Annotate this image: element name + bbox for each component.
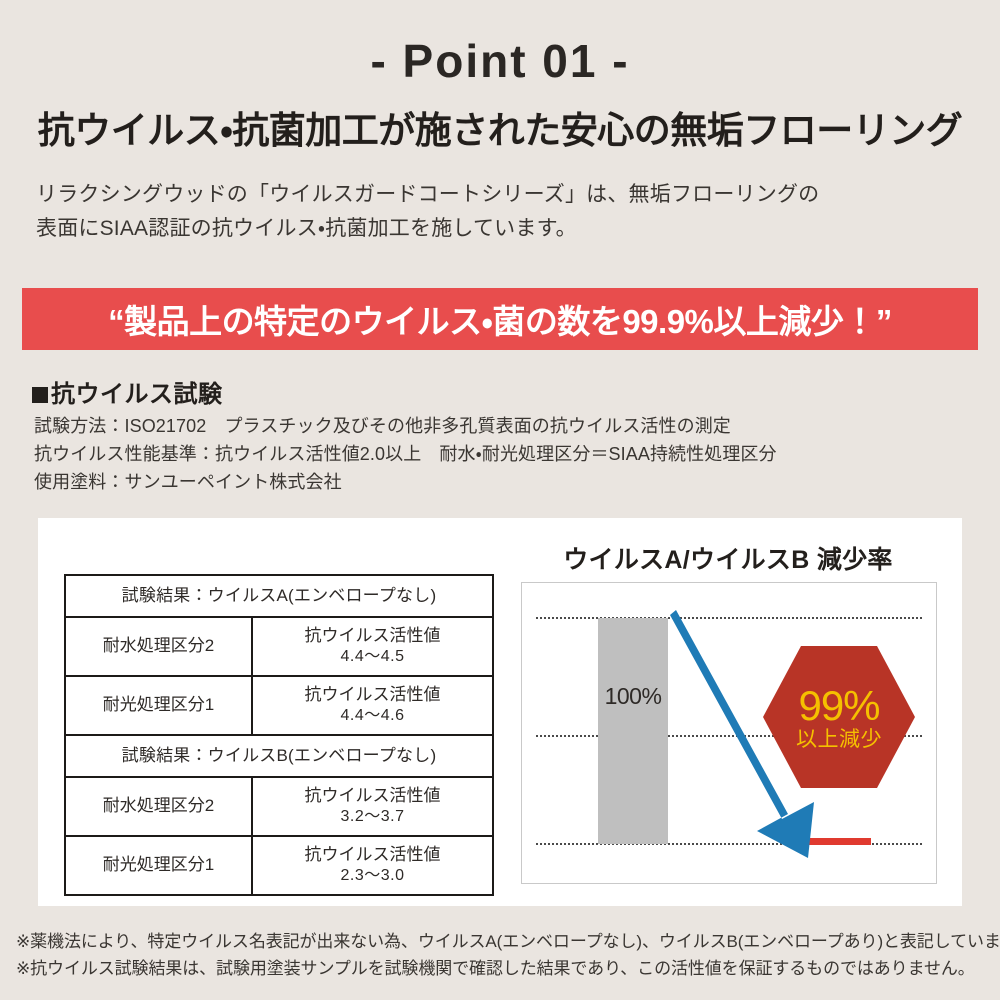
page-title: 抗ウイルス・抗菌加工が施された安心の無垢フローリング (0, 110, 1000, 153)
test-info-line-1: 試験方法：ISO21702 プラスチック及びその他非多孔質表面の抗ウイルス活性の… (34, 412, 964, 440)
highlight-banner: “製品上の特定のウイルス・菌の数を99.9%以上減少！” (22, 288, 978, 350)
row-label: 耐光処理区分1 (65, 676, 252, 735)
footnote-line-2: ※抗ウイルス試験結果は、試験用塗装サンプルを試験機関で確認した結果であり、この活… (16, 955, 991, 982)
test-info-lines: 試験方法：ISO21702 プラスチック及びその他非多孔質表面の抗ウイルス活性の… (34, 412, 964, 496)
table-row: 耐光処理区分1 抗ウイルス活性値 2.3〜3.0 (65, 836, 493, 895)
row-label: 耐水処理区分2 (65, 617, 252, 676)
table-header-cell: 試験結果：ウイルスA(エンベロープなし) (65, 575, 493, 617)
test-section-heading-label: 抗ウイルス試験 (51, 381, 223, 408)
test-info-line-2: 抗ウイルス性能基準：抗ウイルス活性値2.0以上 耐水・耐光処理区分＝SIAA持続… (34, 440, 964, 468)
chart-title: ウイルスA/ウイルスB 減少率 (518, 540, 938, 576)
table-header-cell: 試験結果：ウイルスB(エンベロープなし) (65, 735, 493, 777)
row-value-line-2: 3.2〜3.7 (253, 807, 492, 828)
lede-paragraph: リラクシングウッドの「ウイルスガードコートシリーズ」は、無垢フローリングの 表面… (36, 178, 966, 246)
row-label: 耐水処理区分2 (65, 777, 252, 836)
table-row: 耐水処理区分2 抗ウイルス活性値 3.2〜3.7 (65, 777, 493, 836)
reduction-badge-caption: 以上減少 (796, 729, 882, 750)
test-info-line-3: 使用塗料：サンユーペイント株式会社 (34, 468, 964, 496)
row-value-line-1: 抗ウイルス活性値 (305, 626, 441, 645)
lede-line-2: 表面にSIAA認証の抗ウイルス・抗菌加工を施しています。 (36, 212, 966, 246)
footnotes: ※薬機法により、特定ウイルス名表記が出来ない為、ウイルスA(エンベロープなし)、… (16, 928, 991, 982)
row-label: 耐光処理区分1 (65, 836, 252, 895)
highlight-banner-text: “製品上の特定のウイルス・菌の数を99.9%以上減少！” (108, 295, 892, 343)
row-value-line-1: 抗ウイルス活性値 (305, 845, 441, 864)
row-value-line-2: 4.4〜4.5 (253, 647, 492, 668)
table-row: 耐水処理区分2 抗ウイルス活性値 4.4〜4.5 (65, 617, 493, 676)
footnote-line-1: ※薬機法により、特定ウイルス名表記が出来ない為、ウイルスA(エンベロープなし)、… (16, 928, 991, 955)
results-table-virus-a: 試験結果：ウイルスA(エンベロープなし) 耐水処理区分2 抗ウイルス活性値 4.… (64, 574, 494, 736)
square-bullet-icon (32, 387, 48, 403)
results-table-virus-b: 試験結果：ウイルスB(エンベロープなし) 耐水処理区分2 抗ウイルス活性値 3.… (64, 734, 494, 896)
lede-line-1: リラクシングウッドの「ウイルスガードコートシリーズ」は、無垢フローリングの (36, 178, 966, 212)
results-card: 試験結果：ウイルスA(エンベロープなし) 耐水処理区分2 抗ウイルス活性値 4.… (38, 518, 962, 906)
table-header-row: 試験結果：ウイルスA(エンベロープなし) (65, 575, 493, 617)
point-label: - Point 01 - (0, 38, 1000, 84)
table-row: 耐光処理区分1 抗ウイルス活性値 4.4〜4.6 (65, 676, 493, 735)
row-value-line-2: 4.4〜4.6 (253, 706, 492, 727)
test-section-heading: 抗ウイルス試験 (32, 374, 223, 409)
row-value: 抗ウイルス活性値 2.3〜3.0 (252, 836, 493, 895)
row-value: 抗ウイルス活性値 4.4〜4.5 (252, 617, 493, 676)
row-value-line-2: 2.3〜3.0 (253, 866, 492, 887)
row-value-line-1: 抗ウイルス活性値 (305, 685, 441, 704)
row-value: 抗ウイルス活性値 3.2〜3.7 (252, 777, 493, 836)
reduction-chart: 100% 99% 以上減少 (521, 582, 937, 884)
row-value: 抗ウイルス活性値 4.4〜4.6 (252, 676, 493, 735)
reduction-badge-value: 99% (798, 685, 879, 727)
table-header-row: 試験結果：ウイルスB(エンベロープなし) (65, 735, 493, 777)
row-value-line-1: 抗ウイルス活性値 (305, 786, 441, 805)
